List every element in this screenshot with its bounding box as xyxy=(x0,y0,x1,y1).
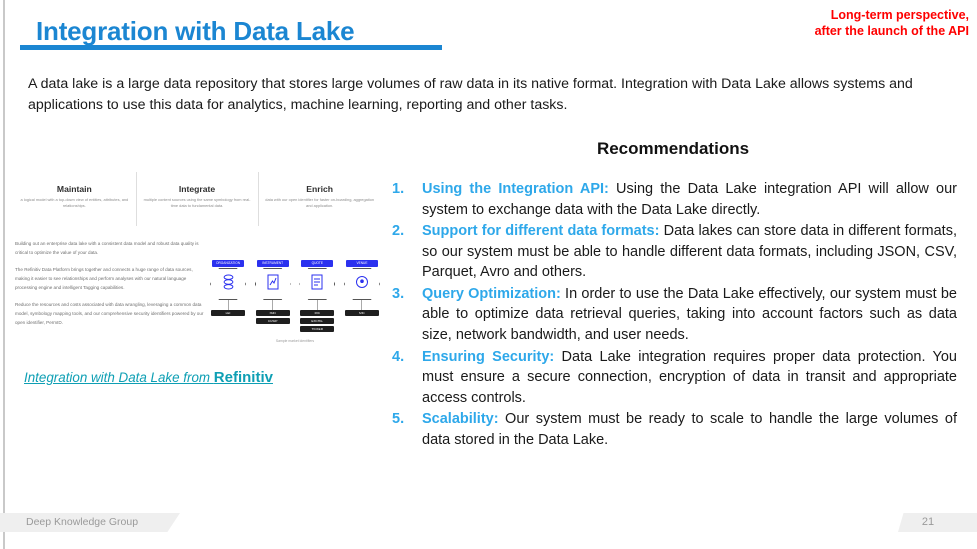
flow-chip: MIC xyxy=(345,310,379,316)
list-item-text: Query Optimization: In order to use the … xyxy=(422,284,957,346)
recommendations-list: 1. Using the Integration API: Using the … xyxy=(392,179,957,452)
footer-organization: Deep Knowledge Group xyxy=(26,516,138,528)
flow-node-cap: ORGANIZATION xyxy=(212,260,244,267)
list-item-lead: Support for different data formats: xyxy=(422,223,659,239)
flow-chip: RIC xyxy=(300,310,334,316)
list-item-text: Support for different data formats: Data… xyxy=(422,221,957,283)
list-item: 1. Using the Integration API: Using the … xyxy=(392,179,957,220)
list-item-number: 5. xyxy=(392,409,422,430)
figure-column-enrich: Enrich data with our open identifier for… xyxy=(258,184,381,232)
flow-chip: CUSIP xyxy=(256,318,290,324)
figure-column-title: Maintain xyxy=(19,184,130,194)
list-item-lead: Scalability: xyxy=(422,411,499,427)
database-icon xyxy=(222,274,235,295)
list-item-text: Using the Integration API: Using the Dat… xyxy=(422,179,957,220)
slide-canvas: Integration with Data Lake Long-term per… xyxy=(0,0,977,549)
figure-source-brand: Refinitiv xyxy=(214,369,273,386)
data-lake-figure: Maintain a logical model with a top-down… xyxy=(13,184,381,349)
list-item-lead: Using the Integration API: xyxy=(422,181,609,197)
list-item-number: 4. xyxy=(392,347,422,368)
flow-stem xyxy=(272,300,273,310)
figure-column-maintain: Maintain a logical model with a top-down… xyxy=(13,184,136,232)
figure-column-subtitle: data with our open identifier for faster… xyxy=(264,197,375,209)
list-item: 4. Ensuring Security: Data Lake integrat… xyxy=(392,347,957,409)
flow-stem xyxy=(228,300,229,310)
list-item-text: Scalability: Our system must be ready to… xyxy=(422,409,957,450)
figure-column-row: Maintain a logical model with a top-down… xyxy=(13,184,381,232)
list-item: 3. Query Optimization: In order to use t… xyxy=(392,284,957,346)
intro-paragraph: A data lake is a large data repository t… xyxy=(28,74,953,115)
chart-line-icon xyxy=(267,274,279,295)
flow-chip: LEI xyxy=(211,310,245,316)
corner-note-line-2: after the launch of the API xyxy=(669,24,969,40)
list-item-text: Ensuring Security: Data Lake integration… xyxy=(422,347,957,409)
figure-source-link[interactable]: Integration with Data Lake from Refiniti… xyxy=(24,369,273,386)
flow-caption: Sample market identifiers xyxy=(209,339,381,343)
location-pin-icon xyxy=(355,274,369,295)
figure-paragraph: The Refinitiv Data Platform brings toget… xyxy=(15,266,205,293)
flow-node-instrument: INSTRUMENT ISIN CUSIP xyxy=(254,260,292,326)
corner-note-line-1: Long-term perspective, xyxy=(669,8,969,24)
figure-column-title: Enrich xyxy=(264,184,375,194)
list-item-number: 3. xyxy=(392,284,422,305)
page-title: Integration with Data Lake xyxy=(36,16,354,47)
flow-stem xyxy=(317,300,318,310)
hexagon-row: ORGANIZATION LEI xyxy=(209,260,381,334)
left-edge-rule xyxy=(3,0,5,549)
figure-source-prefix: Integration with Data Lake from xyxy=(24,370,214,385)
flow-node-cap: INSTRUMENT xyxy=(257,260,289,267)
figure-column-title: Integrate xyxy=(142,184,253,194)
identifier-flow-diagram: ORGANIZATION LEI xyxy=(209,260,381,343)
list-item-number: 2. xyxy=(392,221,422,242)
figure-paragraph-block: Building out an enterprise data lake wit… xyxy=(15,240,205,336)
figure-body: Building out an enterprise data lake wit… xyxy=(13,240,381,350)
list-item-body: Our system must be ready to scale to han… xyxy=(422,411,957,448)
figure-column-subtitle: a logical model with a top-down view of … xyxy=(19,197,130,209)
flow-node-quote: QUOTE RIC xyxy=(298,260,336,334)
flow-chip: ISIN xyxy=(256,310,290,316)
flow-chip: EXCHG. xyxy=(300,318,334,324)
list-item-lead: Query Optimization: xyxy=(422,286,561,302)
hexagon-shape xyxy=(344,268,380,300)
flow-chip: TICKER xyxy=(300,326,334,332)
corner-note: Long-term perspective, after the launch … xyxy=(669,8,969,39)
footer-page-number: 21 xyxy=(898,516,958,528)
flow-node-venue: VENUE MIC xyxy=(343,260,381,318)
flow-node-cap: QUOTE xyxy=(301,260,333,267)
flow-node-cap: VENUE xyxy=(346,260,378,267)
list-item: 5. Scalability: Our system must be ready… xyxy=(392,409,957,450)
document-icon xyxy=(311,274,323,295)
figure-column-subtitle: multiple content sources using the same … xyxy=(142,197,253,209)
flow-node-organization: ORGANIZATION LEI xyxy=(209,260,247,318)
flow-stem xyxy=(361,300,362,310)
list-item: 2. Support for different data formats: D… xyxy=(392,221,957,283)
figure-column-integrate: Integrate multiple content sources using… xyxy=(136,184,259,232)
title-underline-rule xyxy=(20,45,442,50)
hexagon-shape xyxy=(255,268,291,300)
list-item-number: 1. xyxy=(392,179,422,200)
hexagon-shape xyxy=(299,268,335,300)
figure-paragraph: Reduce the resources and costs associate… xyxy=(15,301,205,328)
hexagon-shape xyxy=(210,268,246,300)
figure-paragraph: Building out an enterprise data lake wit… xyxy=(15,240,205,258)
recommendations-heading: Recommendations xyxy=(392,139,954,159)
list-item-lead: Ensuring Security: xyxy=(422,349,554,365)
